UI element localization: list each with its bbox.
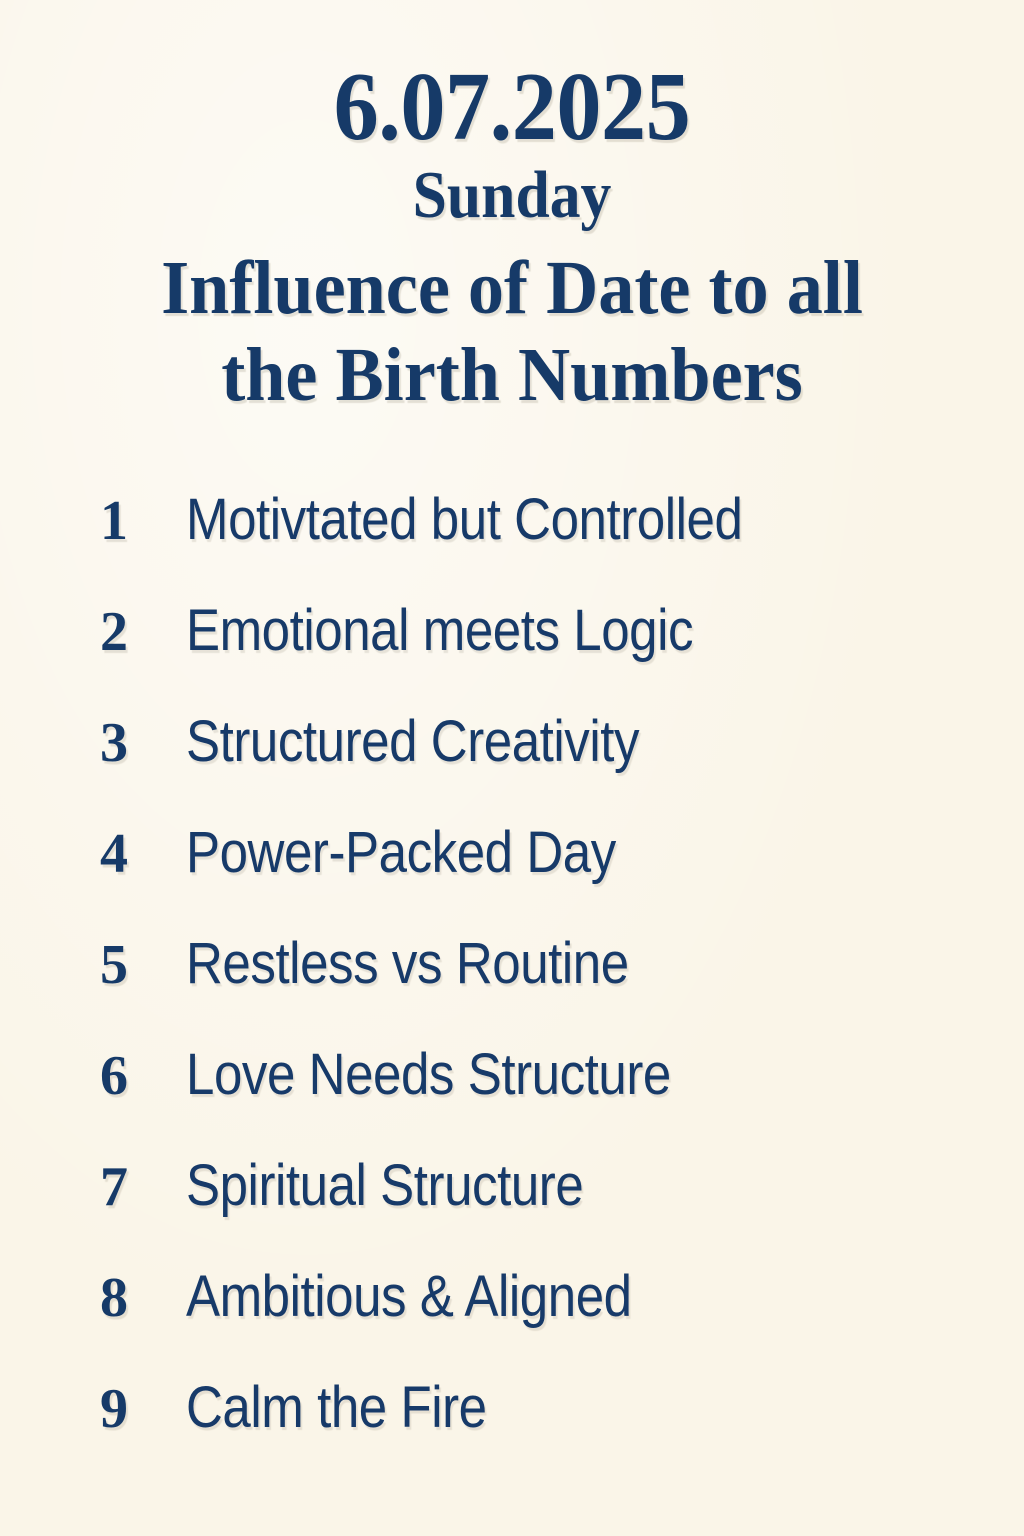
birth-number-6: 6 (100, 1048, 186, 1104)
birth-number-list: 1 Motivtated but Controlled 2 Emotional … (0, 491, 1024, 1490)
poster-root: 6.07.2025 Sunday Influence of Date to al… (0, 0, 1024, 1536)
birth-number-label-4: Power-Packed Day (186, 824, 616, 882)
date-title: 6.07.2025 (36, 58, 988, 155)
birth-number-label-3: Structured Creativity (186, 713, 639, 771)
birth-number-2: 2 (100, 604, 186, 660)
page-title-line-2: the Birth Numbers (92, 332, 932, 419)
birth-number-label-8: Ambitious & Aligned (186, 1268, 632, 1326)
list-item: 9 Calm the Fire (100, 1379, 1024, 1490)
page-title-line-1: Influence of Date to all (92, 245, 932, 332)
list-item: 2 Emotional meets Logic (100, 602, 1024, 713)
birth-number-8: 8 (100, 1270, 186, 1326)
poster-header: 6.07.2025 Sunday Influence of Date to al… (0, 0, 1024, 419)
birth-number-label-1: Motivtated but Controlled (186, 491, 742, 549)
list-item: 6 Love Needs Structure (100, 1046, 1024, 1157)
birth-number-1: 1 (100, 493, 186, 549)
birth-number-3: 3 (100, 715, 186, 771)
birth-number-5: 5 (100, 937, 186, 993)
birth-number-9: 9 (100, 1381, 186, 1437)
list-item: 8 Ambitious & Aligned (100, 1268, 1024, 1379)
list-item: 7 Spiritual Structure (100, 1157, 1024, 1268)
list-item: 5 Restless vs Routine (100, 935, 1024, 1046)
birth-number-4: 4 (100, 826, 186, 882)
birth-number-label-7: Spiritual Structure (186, 1157, 583, 1215)
birth-number-label-9: Calm the Fire (186, 1379, 487, 1437)
list-item: 3 Structured Creativity (100, 713, 1024, 824)
birth-number-label-6: Love Needs Structure (186, 1046, 671, 1104)
birth-number-label-2: Emotional meets Logic (186, 602, 693, 660)
list-item: 1 Motivtated but Controlled (100, 491, 1024, 602)
weekday-subtitle: Sunday (41, 159, 983, 231)
page-title: Influence of Date to all the Birth Numbe… (26, 245, 999, 418)
birth-number-label-5: Restless vs Routine (186, 935, 629, 993)
list-item: 4 Power-Packed Day (100, 824, 1024, 935)
birth-number-7: 7 (100, 1159, 186, 1215)
